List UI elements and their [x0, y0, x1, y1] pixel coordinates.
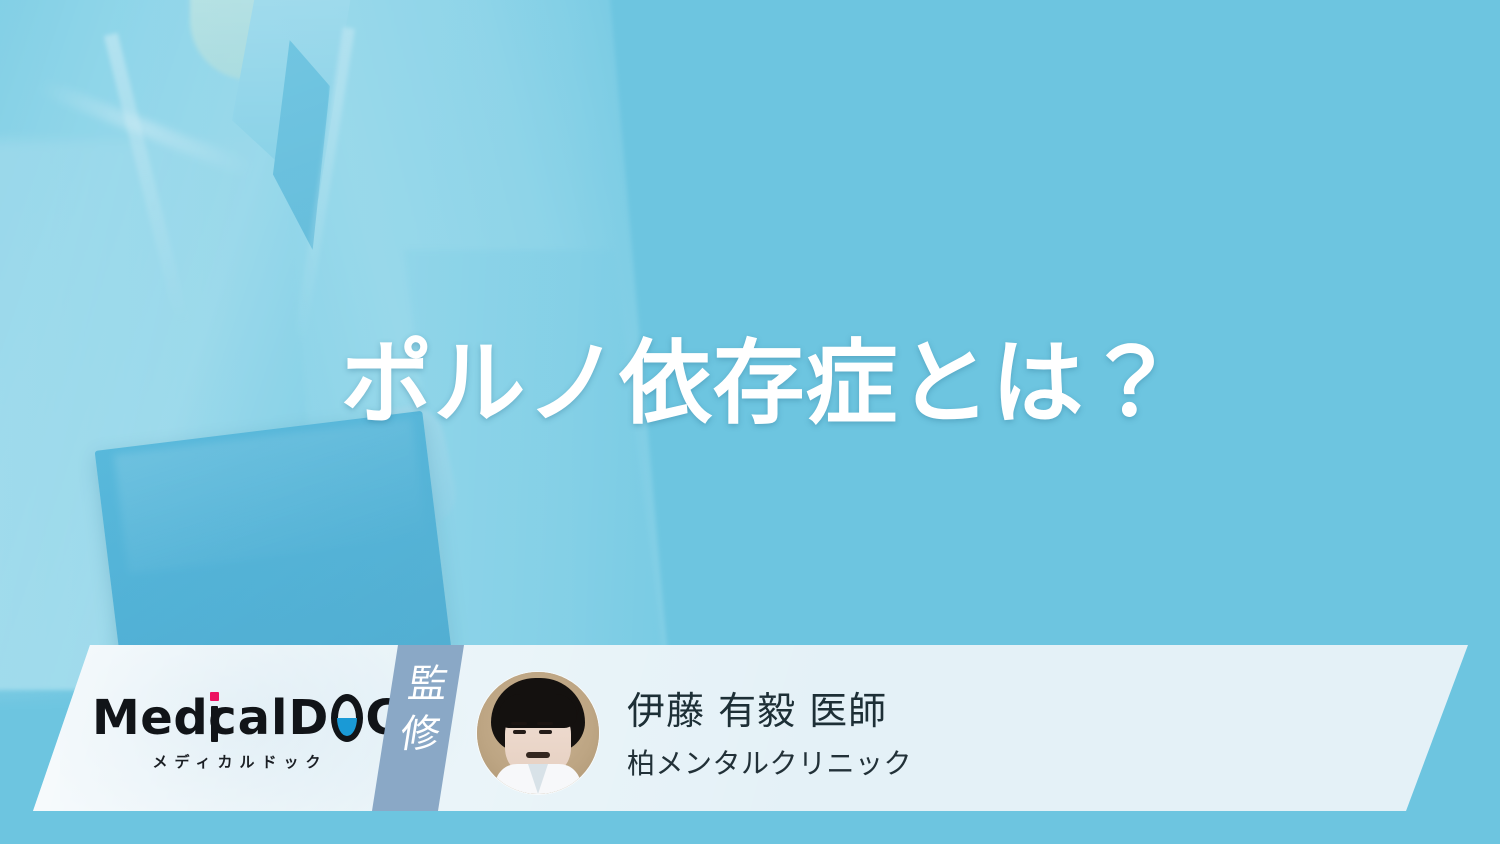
avatar-moustache: [526, 752, 550, 758]
doctor-credit: 伊藤 有毅 医師 柏メンタルクリニック: [627, 690, 912, 782]
avatar-white-coat-collar: [495, 764, 581, 794]
thumbnail-canvas: ポルノ依存症とは？ Med cal D C メディカルドック: [0, 0, 1500, 844]
avatar-eye-right: [539, 730, 552, 734]
logo-subtitle-katakana: メディカルドック: [92, 751, 382, 772]
logo-text-med: Med: [92, 694, 208, 742]
avatar-eyebrow-left: [511, 722, 527, 725]
logo-letter-o-pill-icon: [331, 694, 363, 742]
logo-wordmark: Med cal D C: [92, 690, 382, 742]
avatar-eyebrow-right: [537, 722, 553, 725]
logo-letter-d: D: [288, 694, 329, 742]
page-title: ポルノ依存症とは？: [0, 336, 1500, 433]
doctor-name: 伊藤 有毅 医師: [627, 690, 912, 733]
avatar-eye-left: [513, 730, 526, 734]
logo-text-cal: cal: [208, 694, 288, 742]
clinic-name: 柏メンタルクリニック: [627, 742, 912, 782]
medical-doc-logo[interactable]: Med cal D C メディカルドック: [92, 690, 382, 772]
avatar: [477, 672, 599, 794]
